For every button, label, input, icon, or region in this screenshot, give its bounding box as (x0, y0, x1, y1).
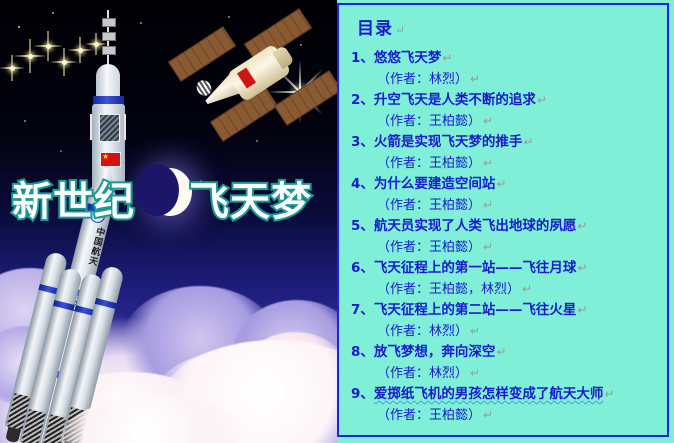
toc-item-author: （作者：王柏懿）↵ (377, 153, 661, 174)
satellite-icon (175, 28, 325, 148)
toc-item-number: 9、 (351, 386, 374, 402)
return-mark-icon: ↵ (395, 23, 406, 37)
toc-item-title[interactable]: 4、为什么要建造空间站↵ (351, 174, 661, 195)
return-mark-icon: ↵ (577, 261, 587, 275)
toc-item-label: 爱掷纸飞机的男孩怎样变成了航天大师 (374, 386, 604, 402)
toc-item-label: 飞天征程上的第一站——飞往月球 (374, 260, 577, 276)
toc-item-author: （作者：林烈）↵ (377, 321, 661, 342)
return-mark-icon: ↵ (537, 93, 547, 107)
toc-item-author-text: （作者：林烈） (377, 366, 468, 381)
toc-item[interactable]: 6、飞天征程上的第一站——飞往月球↵ （作者：王柏懿，林烈）↵ (351, 258, 661, 300)
artwork-title: 新世纪飞天梦 (12, 178, 332, 226)
toc-item-title[interactable]: 9、爱掷纸飞机的男孩怎样变成了航天大师↵ (351, 384, 661, 405)
toc-item-author: （作者：王柏懿，林烈）↵ (377, 279, 661, 300)
return-mark-icon: ↵ (577, 303, 587, 317)
toc-item-number: 1、 (351, 50, 374, 66)
table-of-contents-panel: 目录↵ 1、悠悠飞天梦↵ （作者：林烈）↵ 2、升空飞天是人类不断的追求↵ （作… (337, 3, 669, 437)
return-mark-icon: ↵ (577, 219, 587, 233)
toc-item[interactable]: 9、爱掷纸飞机的男孩怎样变成了航天大师↵ （作者：王柏懿）↵ (351, 384, 661, 426)
return-mark-icon: ↵ (483, 240, 493, 254)
space-illustration: A 中国航天 A CZ-2F 新世纪飞天梦 (0, 0, 337, 443)
toc-item-label: 航天员实现了人类飞出地球的夙愿 (374, 218, 577, 234)
toc-item-author: （作者：王柏懿）↵ (377, 405, 661, 426)
toc-item-label: 火箭是实现飞天梦的推手 (374, 134, 523, 150)
toc-item-label: 放飞梦想，奔向深空 (374, 344, 496, 360)
return-mark-icon: ↵ (483, 114, 493, 128)
toc-item-title[interactable]: 5、航天员实现了人类飞出地球的夙愿↵ (351, 216, 661, 237)
toc-item[interactable]: 4、为什么要建造空间站↵ （作者：王柏懿）↵ (351, 174, 661, 216)
toc-item[interactable]: 7、飞天征程上的第二站——飞往火星↵ （作者：林烈）↵ (351, 300, 661, 342)
toc-item-author: （作者：林烈）↵ (377, 69, 661, 90)
toc-item-number: 8、 (351, 344, 374, 360)
toc-item-number: 7、 (351, 302, 374, 318)
return-mark-icon: ↵ (470, 72, 480, 86)
toc-item-author: （作者：林烈）↵ (377, 363, 661, 384)
toc-item-title[interactable]: 7、飞天征程上的第二站——飞往火星↵ (351, 300, 661, 321)
toc-item-number: 5、 (351, 218, 374, 234)
toc-item-author: （作者：王柏懿）↵ (377, 237, 661, 258)
return-mark-icon: ↵ (483, 198, 493, 212)
china-flag-icon (100, 152, 121, 167)
toc-item-author: （作者：王柏懿）↵ (377, 195, 661, 216)
toc-item[interactable]: 3、火箭是实现飞天梦的推手↵ （作者：王柏懿）↵ (351, 132, 661, 174)
toc-item-number: 2、 (351, 92, 374, 108)
toc-item-author-text: （作者：王柏懿） (377, 114, 481, 129)
return-mark-icon: ↵ (483, 156, 493, 170)
toc-item-label: 升空飞天是人类不断的追求 (374, 92, 536, 108)
toc-item-title[interactable]: 2、升空飞天是人类不断的追求↵ (351, 90, 661, 111)
toc-item-author-text: （作者：林烈） (377, 324, 468, 339)
toc-item-author-text: （作者：王柏懿，林烈） (377, 282, 520, 297)
return-mark-icon: ↵ (483, 408, 493, 422)
toc-item-author-text: （作者：王柏懿） (377, 156, 481, 171)
return-mark-icon: ↵ (470, 324, 480, 338)
toc-item-title[interactable]: 1、悠悠飞天梦↵ (351, 48, 661, 69)
toc-item[interactable]: 1、悠悠飞天梦↵ （作者：林烈）↵ (351, 48, 661, 90)
toc-item-number: 4、 (351, 176, 374, 192)
return-mark-icon: ↵ (522, 282, 532, 296)
rocket-marking-chinese: 中国航天 (74, 223, 105, 267)
return-mark-icon: ↵ (604, 387, 614, 401)
toc-item-author-text: （作者：林烈） (377, 72, 468, 87)
return-mark-icon: ↵ (496, 345, 506, 359)
toc-item-author-text: （作者：王柏懿） (377, 240, 481, 255)
spacecraft-icon (86, 10, 132, 190)
toc-item-author: （作者：王柏懿）↵ (377, 111, 661, 132)
artwork-title-part2: 飞天梦 (189, 179, 312, 225)
toc-heading-text: 目录 (357, 19, 393, 39)
toc-item-number: 6、 (351, 260, 374, 276)
toc-item-title[interactable]: 6、飞天征程上的第一站——飞往月球↵ (351, 258, 661, 279)
return-mark-icon: ↵ (496, 177, 506, 191)
toc-item[interactable]: 5、航天员实现了人类飞出地球的夙愿↵ （作者：王柏懿）↵ (351, 216, 661, 258)
toc-item-author-text: （作者：王柏懿） (377, 408, 481, 423)
return-mark-icon: ↵ (523, 135, 533, 149)
artwork-title-part1: 新世纪 (12, 179, 135, 225)
return-mark-icon: ↵ (470, 366, 480, 380)
toc-item-number: 3、 (351, 134, 374, 150)
return-mark-icon: ↵ (442, 51, 452, 65)
toc-heading: 目录↵ (357, 17, 661, 42)
toc-item-title[interactable]: 8、放飞梦想，奔向深空↵ (351, 342, 661, 363)
toc-item-label: 悠悠飞天梦 (374, 50, 442, 66)
toc-item[interactable]: 8、放飞梦想，奔向深空↵ （作者：林烈）↵ (351, 342, 661, 384)
slide-page: A 中国航天 A CZ-2F 新世纪飞天梦 目录↵ 1、悠悠飞天梦↵ （作者：林… (0, 0, 674, 443)
toc-item-label: 飞天征程上的第二站——飞往火星 (374, 302, 577, 318)
toc-item-label: 为什么要建造空间站 (374, 176, 496, 192)
toc-item-author-text: （作者：王柏懿） (377, 198, 481, 213)
toc-item-title[interactable]: 3、火箭是实现飞天梦的推手↵ (351, 132, 661, 153)
toc-item[interactable]: 2、升空飞天是人类不断的追求↵ （作者：王柏懿）↵ (351, 90, 661, 132)
